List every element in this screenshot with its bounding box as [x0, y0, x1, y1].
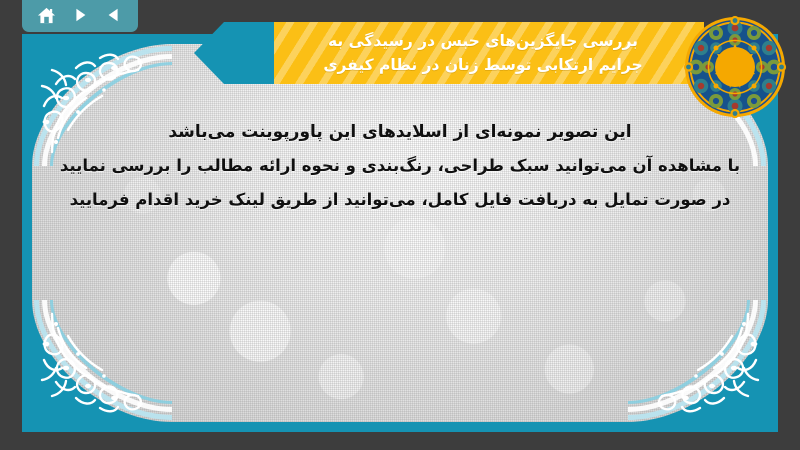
- triangle-right-icon: [71, 6, 89, 24]
- slide-panel: [22, 34, 778, 432]
- persian-medallion-icon: [682, 14, 788, 120]
- body-line-1: این تصویر نمونه‌ای از اسلایدهای این پاور…: [40, 120, 760, 145]
- banner-arrow-shape: [194, 22, 276, 84]
- slide-content-area: [32, 44, 768, 422]
- slide-body: این تصویر نمونه‌ای از اسلایدهای این پاور…: [40, 120, 760, 221]
- slide-navigation-bar[interactable]: [22, 0, 138, 32]
- background-texture: [32, 44, 768, 422]
- next-slide-button[interactable]: [67, 3, 93, 27]
- previous-slide-button[interactable]: [101, 3, 127, 27]
- home-icon: [37, 6, 56, 25]
- home-slide-button[interactable]: [33, 3, 59, 27]
- page-title: بررسی جایگزین‌های حبس در رسیدگی بهجرایم …: [323, 29, 642, 77]
- body-line-3: در صورت تمایل به دریافت فایل کامل، می‌تو…: [40, 188, 760, 212]
- presentation-slide: این تصویر نمونه‌ای از اسلایدهای این پاور…: [0, 0, 800, 450]
- triangle-left-icon: [105, 6, 123, 24]
- slide-title-banner: بررسی جایگزین‌های حبس در رسیدگی بهجرایم …: [274, 22, 704, 84]
- body-line-2: با مشاهده آن می‌توانید سبک طراحی، رنگ‌بن…: [40, 154, 760, 178]
